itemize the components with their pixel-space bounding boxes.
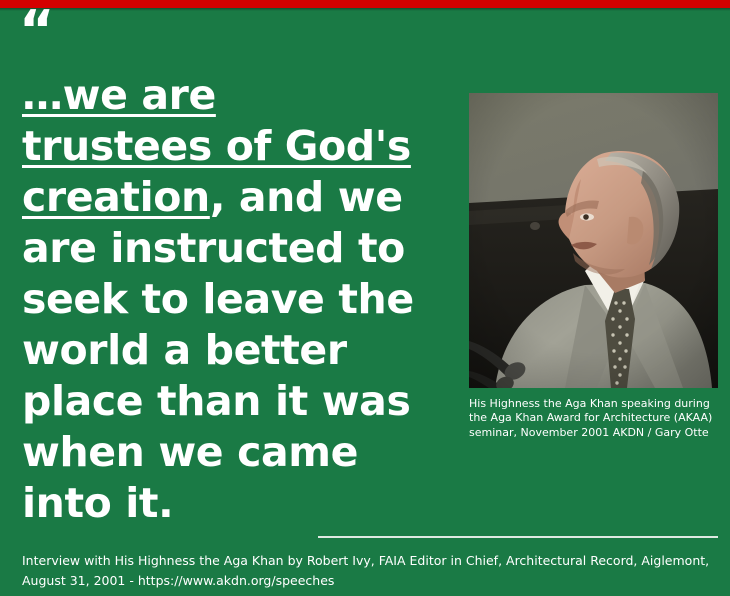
quote-plain: , and we	[210, 173, 403, 221]
quote-emphasis: creation	[22, 173, 210, 221]
quote-emphasis: trustees of God's	[22, 122, 411, 170]
accent-bar-shadow	[0, 8, 730, 11]
quote-line: world a better	[22, 325, 454, 376]
quote-line: creation, and we	[22, 172, 454, 223]
speaker-photo	[469, 93, 718, 388]
quote-emphasis: …we are	[22, 71, 216, 119]
speaker-photo-image	[469, 93, 718, 388]
quote-plain: when we came	[22, 428, 358, 476]
quote-text: …we aretrustees of God'screation, and we…	[22, 70, 454, 529]
open-quotation-mark-icon: “	[19, 4, 54, 58]
quote-line: trustees of God's	[22, 121, 454, 172]
accent-bar-top	[0, 0, 730, 8]
quote-plain: place than it was	[22, 377, 410, 425]
quote-plain: seek to leave the	[22, 275, 414, 323]
quote-slide: “ …we aretrustees of God'screation, and …	[0, 0, 730, 596]
photo-caption: His Highness the Aga Khan speaking durin…	[469, 397, 719, 440]
quote-plain: world a better	[22, 326, 347, 374]
quote-line: seek to leave the	[22, 274, 454, 325]
quote-line: when we came	[22, 427, 454, 478]
quote-plain: into it.	[22, 479, 173, 527]
quote-line: are instructed to	[22, 223, 454, 274]
source-attribution: Interview with His Highness the Aga Khan…	[22, 551, 712, 590]
quote-line: into it.	[22, 478, 454, 529]
quote-line: …we are	[22, 70, 454, 121]
divider-rule	[318, 536, 718, 538]
quote-plain: are instructed to	[22, 224, 405, 272]
quote-line: place than it was	[22, 376, 454, 427]
